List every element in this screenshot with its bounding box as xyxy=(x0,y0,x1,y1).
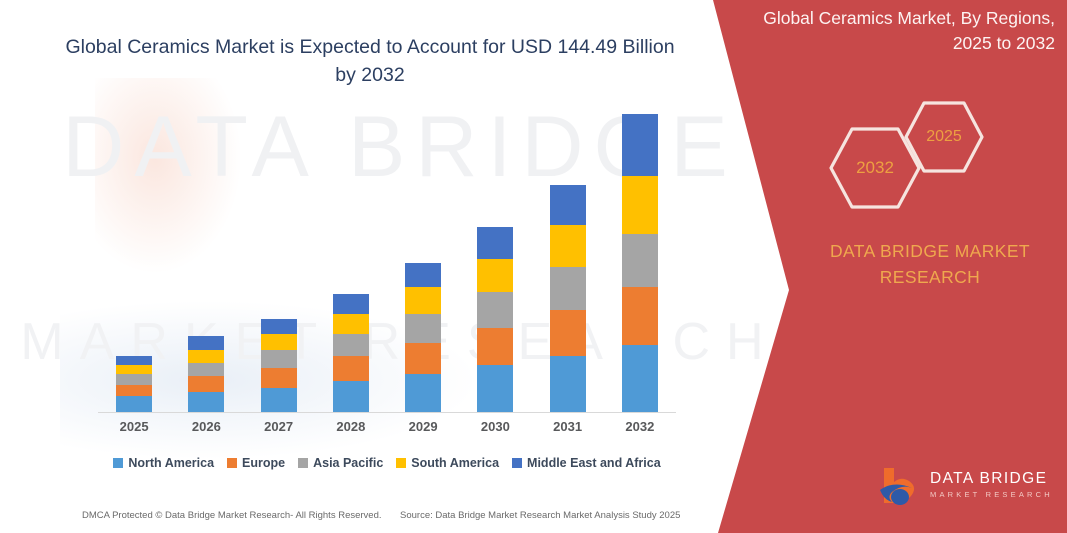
legend-item[interactable]: South America xyxy=(396,456,499,470)
legend-label: Asia Pacific xyxy=(313,456,383,470)
logo-tagline: MARKET RESEARCH xyxy=(930,490,1053,499)
bar-segment xyxy=(116,356,152,365)
bar-segment xyxy=(477,227,513,258)
stacked-bar xyxy=(622,114,658,412)
stacked-bar-chart xyxy=(98,108,676,412)
footer-source-text: Source: Data Bridge Market Research Mark… xyxy=(400,510,680,521)
bar-column-2027 xyxy=(243,108,315,412)
legend-label: North America xyxy=(128,456,214,470)
legend-swatch-icon xyxy=(113,458,123,468)
bar-segment xyxy=(550,356,586,412)
bar-segment xyxy=(477,365,513,412)
legend-swatch-icon xyxy=(396,458,406,468)
bar-column-2031 xyxy=(532,108,604,412)
x-tick-2026: 2026 xyxy=(170,419,242,434)
bar-column-2030 xyxy=(459,108,531,412)
stacked-bar xyxy=(188,336,224,412)
chart-panel: DATA BRIDGE MARKET RESEARCH Global Ceram… xyxy=(0,0,800,533)
footer: DMCA Protected © Data Bridge Market Rese… xyxy=(0,505,720,525)
legend-swatch-icon xyxy=(298,458,308,468)
bar-segment xyxy=(405,263,441,287)
stacked-bar xyxy=(116,356,152,412)
logo-name: DATA BRIDGE xyxy=(930,470,1053,487)
x-tick-2025: 2025 xyxy=(98,419,170,434)
x-tick-2032: 2032 xyxy=(604,419,676,434)
bar-segment xyxy=(333,381,369,412)
bar-segment xyxy=(405,314,441,343)
bar-segment xyxy=(405,374,441,412)
bar-column-2025 xyxy=(98,108,170,412)
legend-label: South America xyxy=(411,456,499,470)
bar-segment xyxy=(333,314,369,334)
legend-label: Middle East and Africa xyxy=(527,456,661,470)
bar-segment xyxy=(550,225,586,267)
panel-heading: Global Ceramics Market, By Regions, 2025… xyxy=(735,6,1055,56)
stacked-bar xyxy=(333,294,369,412)
brand-name: DATA BRIDGE MARKET RESEARCH xyxy=(795,238,1065,291)
bar-segment xyxy=(261,388,297,412)
hexagon-2025-label: 2025 xyxy=(926,128,962,146)
legend-label: Europe xyxy=(242,456,285,470)
bar-segment xyxy=(622,114,658,176)
legend-item[interactable]: Asia Pacific xyxy=(298,456,383,470)
bar-segment xyxy=(550,267,586,309)
bar-segment xyxy=(116,396,152,412)
bar-segment xyxy=(188,336,224,349)
bar-segment xyxy=(477,292,513,328)
bar-segment xyxy=(333,294,369,314)
x-tick-2030: 2030 xyxy=(459,419,531,434)
hexagon-2025: 2025 xyxy=(903,100,985,174)
bar-segment xyxy=(188,350,224,363)
hexagon-2032-label: 2032 xyxy=(856,158,894,178)
bar-segment xyxy=(333,356,369,380)
bar-segment xyxy=(405,343,441,374)
bar-segment xyxy=(188,363,224,376)
x-tick-2031: 2031 xyxy=(532,419,604,434)
bar-segment xyxy=(116,365,152,374)
bar-segment xyxy=(261,319,297,335)
stacked-bar xyxy=(550,185,586,412)
legend-item[interactable]: Europe xyxy=(227,456,285,470)
bar-segment xyxy=(622,176,658,234)
stacked-bar xyxy=(477,227,513,412)
legend-item[interactable]: Middle East and Africa xyxy=(512,456,661,470)
footer-dmca-text: DMCA Protected © Data Bridge Market Rese… xyxy=(82,510,382,521)
bar-segment xyxy=(116,374,152,385)
bar-segment xyxy=(188,392,224,412)
bar-segment xyxy=(550,185,586,225)
bar-column-2026 xyxy=(170,108,242,412)
bar-segment xyxy=(405,287,441,314)
bar-segment xyxy=(261,334,297,350)
stacked-bar xyxy=(405,263,441,412)
legend-swatch-icon xyxy=(512,458,522,468)
x-tick-2029: 2029 xyxy=(387,419,459,434)
hexagon-group: 2032 2025 xyxy=(818,100,1018,215)
legend-item[interactable]: North America xyxy=(113,456,214,470)
legend-swatch-icon xyxy=(227,458,237,468)
bar-segment xyxy=(477,259,513,292)
stacked-bar xyxy=(261,319,297,412)
bar-column-2028 xyxy=(315,108,387,412)
bar-segment xyxy=(333,334,369,356)
page-title: Global Ceramics Market is Expected to Ac… xyxy=(60,33,680,90)
x-axis-line xyxy=(98,412,676,413)
bar-segment xyxy=(622,287,658,345)
bar-column-2029 xyxy=(387,108,459,412)
x-tick-2027: 2027 xyxy=(243,419,315,434)
logo-mark-icon xyxy=(878,466,924,508)
x-tick-2028: 2028 xyxy=(315,419,387,434)
bar-segment xyxy=(477,328,513,366)
bar-segment xyxy=(261,350,297,368)
bar-segment xyxy=(550,310,586,357)
logo-text: DATA BRIDGE MARKET RESEARCH xyxy=(930,470,1053,499)
bar-column-2032 xyxy=(604,108,676,412)
x-axis-labels: 20252026202720282029203020312032 xyxy=(98,419,676,434)
chart-legend: North AmericaEuropeAsia PacificSouth Ame… xyxy=(98,456,676,470)
bar-segment xyxy=(622,234,658,287)
bar-segment xyxy=(188,376,224,392)
data-bridge-logo: DATA BRIDGE MARKET RESEARCH xyxy=(878,466,1053,510)
bar-segment xyxy=(622,345,658,412)
bar-segment xyxy=(116,385,152,396)
bar-segment xyxy=(261,368,297,388)
